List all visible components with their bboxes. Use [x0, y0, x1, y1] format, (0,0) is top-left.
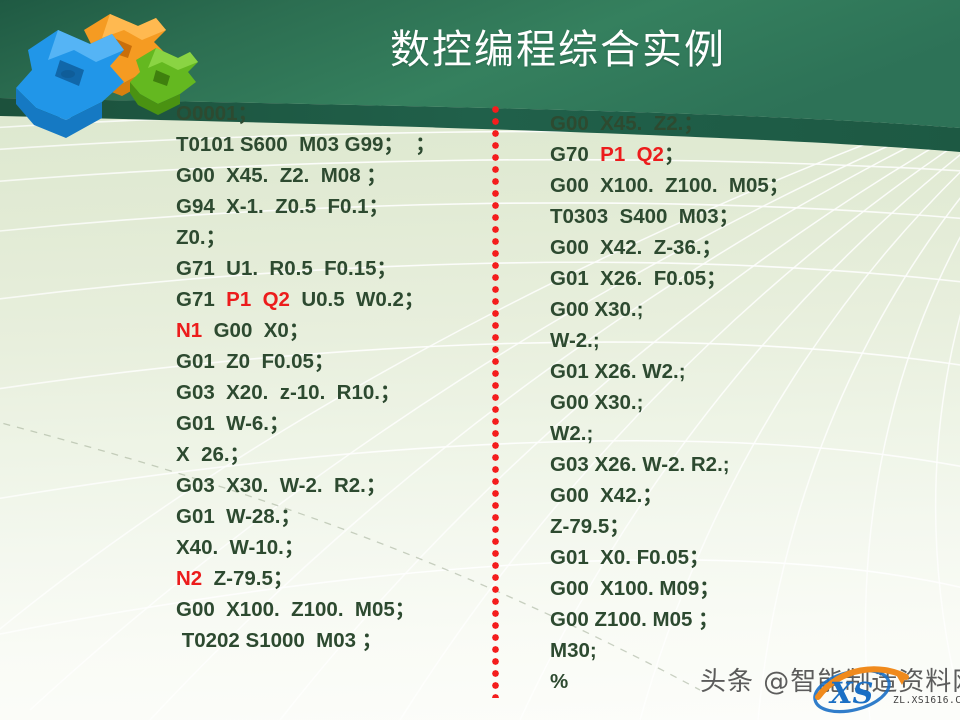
code-right-line: G00 X42. Z-36.； [550, 232, 880, 263]
code-text: G03 X30. W-2. R2.； [176, 474, 386, 497]
code-left-line: G94 X-1. Z0.5 F0.1； [176, 191, 486, 222]
code-text: G00 X45. Z2. M08 ； [176, 164, 387, 187]
code-right-line: G01 X26. W2.; [550, 356, 880, 387]
code-highlight: N2 [176, 567, 202, 590]
code-highlight: P1 Q2 [226, 288, 290, 311]
code-text: G70 [550, 143, 600, 166]
code-left-line: T0202 S1000 M03 ； [176, 625, 486, 656]
code-right-line: % [550, 666, 880, 697]
code-text: W-2.; [550, 329, 600, 352]
code-right-line: W2.; [550, 418, 880, 449]
code-left-line: G03 X30. W-2. R2.； [176, 470, 486, 501]
code-text: U0.5 W0.2； [290, 288, 424, 311]
code-column-right: G00 X45. Z2.；G70 P1 Q2；G00 X100. Z100. M… [550, 108, 880, 697]
code-left-line: X 26.； [176, 439, 486, 470]
code-text: G01 Z0 F0.05； [176, 350, 334, 373]
code-text: % [550, 670, 568, 693]
code-highlight: P1 Q2 [600, 143, 664, 166]
code-left-line: X40. W-10.； [176, 532, 486, 563]
code-text: G71 U1. R0.5 F0.15； [176, 257, 397, 280]
code-text: G00 Z100. M05 ； [550, 608, 719, 631]
code-text: G00 X30.; [550, 391, 643, 414]
code-right-line: G00 X30.; [550, 387, 880, 418]
code-right-line: G00 X42.； [550, 480, 880, 511]
code-right-line: G70 P1 Q2； [550, 139, 880, 170]
code-right-line: G00 X100. Z100. M05； [550, 170, 880, 201]
code-text: Z-79.5； [550, 515, 630, 538]
code-right-line: G00 Z100. M05 ； [550, 604, 880, 635]
code-text: G00 X100. Z100. M05； [550, 174, 789, 197]
code-text: G00 X42.； [550, 484, 663, 507]
code-text: T0303 S400 M03； [550, 205, 739, 228]
code-left-line: G03 X20. z-10. R10.； [176, 377, 486, 408]
code-left-line: G01 W-28.； [176, 501, 486, 532]
code-text: G01 W-28.； [176, 505, 301, 528]
code-right-line: W-2.; [550, 325, 880, 356]
code-left-line: O0001； [176, 98, 486, 129]
code-left-line: Z0.； [176, 222, 486, 253]
code-left-line: G71 P1 Q2 U0.5 W0.2； [176, 284, 486, 315]
code-left-line: N2 Z-79.5； [176, 563, 486, 594]
code-text: G01 W-6.； [176, 412, 290, 435]
code-text: T0202 S1000 M03 ； [176, 629, 382, 652]
code-text: G01 X26. W2.; [550, 360, 686, 383]
code-text: ； [664, 143, 685, 166]
code-right-line: T0303 S400 M03； [550, 201, 880, 232]
code-text: G71 [176, 288, 226, 311]
code-left-line: T0101 S600 M03 G99； ； [176, 129, 486, 160]
code-column-left: O0001；T0101 S600 M03 G99； ；G00 X45. Z2. … [176, 98, 486, 656]
code-left-line: G00 X100. Z100. M05； [176, 594, 486, 625]
code-text: G00 X0； [202, 319, 309, 342]
code-text: G01 X26. F0.05； [550, 267, 727, 290]
code-right-line: G03 X26. W-2. R2.; [550, 449, 880, 480]
code-left-line: G01 Z0 F0.05； [176, 346, 486, 377]
code-text: Z0.； [176, 226, 226, 249]
code-left-line: G00 X45. Z2. M08 ； [176, 160, 486, 191]
code-text: M30; [550, 639, 597, 662]
code-highlight: N1 [176, 319, 202, 342]
code-text: G00 X100. M09； [550, 577, 720, 600]
column-divider [492, 106, 499, 698]
code-left-line: G71 U1. R0.5 F0.15； [176, 253, 486, 284]
code-text: G00 X30.; [550, 298, 643, 321]
code-text: G00 X45. Z2.； [550, 112, 704, 135]
code-text: G94 X-1. Z0.5 F0.1； [176, 195, 389, 218]
code-right-line: G00 X100. M09； [550, 573, 880, 604]
code-text: G00 X42. Z-36.； [550, 236, 722, 259]
code-right-line: G01 X26. F0.05； [550, 263, 880, 294]
code-text: Z-79.5； [202, 567, 293, 590]
code-text: G03 X20. z-10. R10.； [176, 381, 400, 404]
watermark-url: ZL.XS1616.COM [893, 695, 960, 706]
page-title: 数控编程综合实例 [390, 22, 910, 78]
code-text: G01 X0. F0.05； [550, 546, 710, 569]
code-right-line: G00 X30.; [550, 294, 880, 325]
code-left-line: G01 W-6.； [176, 408, 486, 439]
code-text: W2.; [550, 422, 593, 445]
blue-gear-block [16, 30, 124, 138]
code-text: G00 X100. Z100. M05； [176, 598, 415, 621]
code-right-line: M30; [550, 635, 880, 666]
code-text: X40. W-10.； [176, 536, 304, 559]
code-text: G03 X26. W-2. R2.; [550, 453, 730, 476]
code-text: X 26.； [176, 443, 250, 466]
slide-canvas: 数控编程综合实例 O0001；T0101 S600 M03 G99； ；G00 … [0, 0, 960, 720]
code-left-line: N1 G00 X0； [176, 315, 486, 346]
code-right-line: G00 X45. Z2.； [550, 108, 880, 139]
code-text: T0101 S600 M03 G99； ； [176, 133, 436, 156]
code-right-line: G01 X0. F0.05； [550, 542, 880, 573]
code-text: O0001； [176, 102, 258, 125]
code-right-line: Z-79.5； [550, 511, 880, 542]
